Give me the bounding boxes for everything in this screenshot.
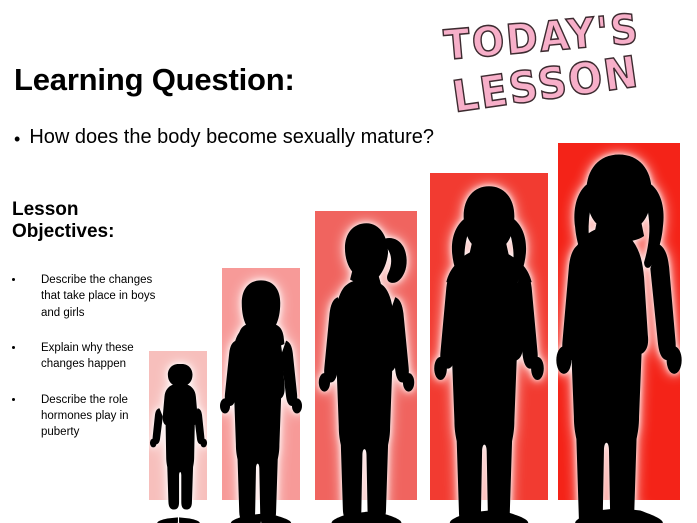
growth-panel-toddler [149,351,207,500]
silhouette-adolescent-icon [420,177,558,523]
silhouette-young-child-icon [211,272,311,523]
growth-panel-older-child [315,211,417,500]
growth-panel-young-child [222,268,300,500]
wordart-line-2: Lesson [419,46,673,124]
figure-wrap [222,272,300,523]
list-item: Describe the changes that take place in … [12,272,170,321]
figure-wrap [558,147,680,523]
page-title: Learning Question: [14,62,295,98]
todays-lesson-wordart: Today's Lesson [416,7,675,138]
figure-wrap [149,355,207,523]
lesson-objectives-heading-line2: Objectives: [12,221,182,243]
bullet-icon: • [14,130,20,148]
silhouette-adult-icon [544,147,694,523]
wordart-line-1: Today's [416,6,669,69]
figure-wrap [430,177,548,523]
growth-panel-adult [558,143,680,500]
slide-canvas: Learning Question: • How does the body b… [0,0,697,523]
lesson-objectives-heading-line1: Lesson [12,199,182,221]
bullet-icon [12,346,15,349]
bullet-icon [12,398,15,401]
silhouette-toddler-icon [145,355,212,523]
bullet-icon [12,278,15,281]
silhouette-older-child-icon [305,215,428,523]
learning-question: • How does the body become sexually matu… [14,126,574,148]
growth-panel-adolescent [430,173,548,500]
list-item-label: Describe the changes that take place in … [41,272,170,321]
learning-question-text: How does the body become sexually mature… [29,126,434,148]
lesson-objectives-heading: Lesson Objectives: [12,199,182,244]
figure-wrap [315,215,417,523]
